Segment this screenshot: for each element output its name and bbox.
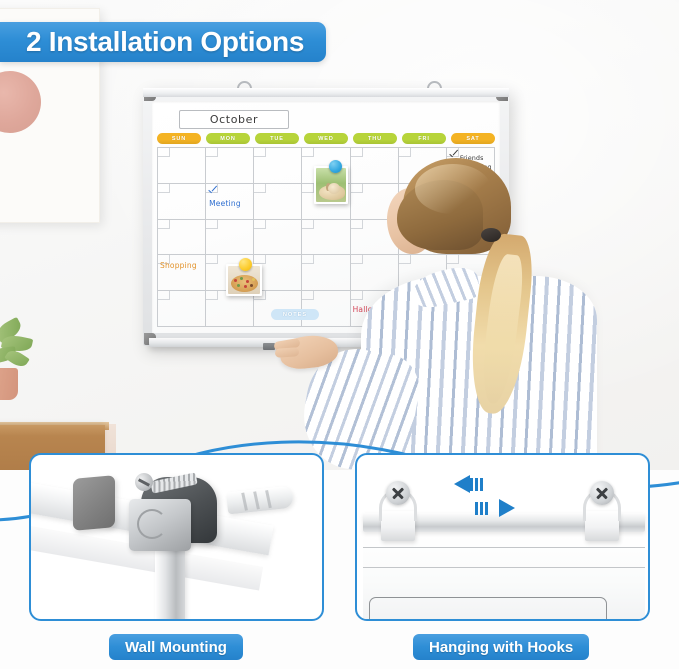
- calendar-cell: [158, 184, 206, 220]
- day-header-tue: TUE: [255, 133, 299, 144]
- wall-art-circle-large-icon: [0, 71, 41, 133]
- day-header-wed: WED: [304, 133, 348, 144]
- notes-label: NOTES: [271, 309, 319, 320]
- day-header-sat: SAT: [451, 133, 495, 144]
- calendar-cell: [302, 255, 350, 291]
- month-title-box: October: [179, 110, 289, 129]
- day-header-row: SUN MON TUE WED THU FRI SAT: [157, 133, 495, 144]
- entry-shopping: Shopping: [160, 261, 197, 270]
- person-demonstrating: [375, 158, 675, 470]
- month-label: October: [180, 113, 288, 126]
- calendar-cell: [158, 148, 206, 184]
- calendar-cell: [254, 148, 302, 184]
- arrow-right-icon: [499, 499, 515, 517]
- frame-corner-icon: [144, 89, 156, 101]
- room-scene: October SUN MON TUE WED THU FRI SAT: [0, 0, 679, 470]
- day-header-thu: THU: [353, 133, 397, 144]
- person-hair-highlight: [415, 164, 491, 214]
- panel-wall-mounting: [29, 453, 324, 621]
- plant-pot: [0, 368, 18, 400]
- infographic-root: October SUN MON TUE WED THU FRI SAT: [0, 0, 679, 669]
- caption-wall-mounting-label: Wall Mounting: [125, 639, 227, 656]
- arrow-right-tail-icon: [475, 501, 488, 515]
- caption-hanging-hooks: Hanging with Hooks: [413, 634, 589, 660]
- screw-hook-left: [379, 481, 417, 529]
- calendar-cell: [254, 220, 302, 256]
- dog-photo-image: [316, 168, 346, 202]
- calendar-cell: [158, 291, 206, 327]
- day-header-fri: FRI: [402, 133, 446, 144]
- screw-head-icon: [386, 481, 410, 505]
- day-header-mon: MON: [206, 133, 250, 144]
- yellow-magnet-icon: [239, 258, 252, 271]
- frame-rail-line: [363, 567, 645, 568]
- screw-hook-right: [583, 481, 621, 529]
- arrow-left-icon: [454, 475, 470, 493]
- calendar-cell: [254, 184, 302, 220]
- caption-wall-mounting: Wall Mounting: [109, 634, 243, 660]
- calendar-cell: Shopping: [158, 255, 206, 291]
- wall-plate: [73, 475, 115, 531]
- caption-hanging-hooks-label: Hanging with Hooks: [429, 639, 573, 656]
- calendar-cell: [206, 148, 254, 184]
- arrow-left-tail-icon: [470, 477, 483, 491]
- hair-tie-icon: [481, 228, 501, 242]
- clamp-slot-icon: [137, 509, 167, 539]
- frame-rail-line: [363, 547, 645, 548]
- title-banner: 2 Installation Options: [0, 22, 326, 62]
- screw-head-icon: [590, 481, 614, 505]
- blue-magnet-icon: [329, 160, 342, 173]
- day-header-sun: SUN: [157, 133, 201, 144]
- wall-anchor-icon: [226, 486, 294, 515]
- entry-meeting: Meeting: [209, 199, 241, 208]
- frame-corner-icon: [496, 89, 508, 101]
- board-inner-outline: [369, 597, 607, 621]
- panel-hanging-hooks: [355, 453, 650, 621]
- person-finger: [275, 347, 300, 358]
- food-toppings: [233, 277, 256, 290]
- calendar-cell: [206, 220, 254, 256]
- calendar-cell: [206, 291, 254, 327]
- check-mark-icon: [208, 188, 217, 195]
- calendar-cell: [302, 220, 350, 256]
- calendar-cell: Meeting: [206, 184, 254, 220]
- page-title: 2 Installation Options: [26, 26, 304, 58]
- calendar-cell: [158, 220, 206, 256]
